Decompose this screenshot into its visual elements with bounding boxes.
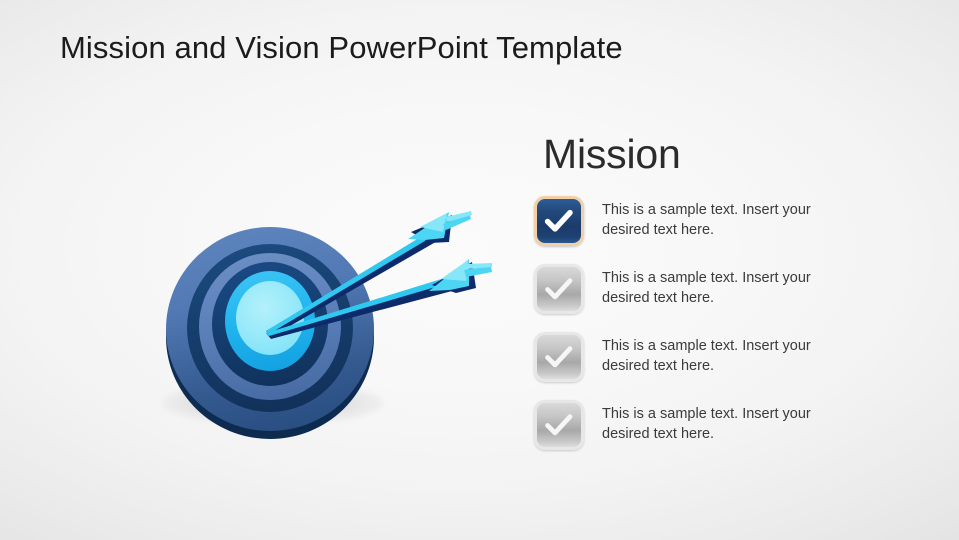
list-item-text: This is a sample text. Insert your desir…	[602, 268, 842, 308]
checkbox-item-1[interactable]	[534, 196, 584, 246]
list-item[interactable]: This is a sample text. Insert your desir…	[534, 332, 934, 400]
target-bullseye-center-icon	[236, 281, 304, 355]
check-icon	[537, 335, 581, 379]
list-item-text: This is a sample text. Insert your desir…	[602, 404, 842, 444]
list-item[interactable]: This is a sample text. Insert your desir…	[534, 400, 934, 468]
check-icon	[537, 403, 581, 447]
checkbox-item-4[interactable]	[534, 400, 584, 450]
list-item-text: This is a sample text. Insert your desir…	[602, 200, 842, 240]
check-icon	[537, 199, 581, 243]
page-title: Mission and Vision PowerPoint Template	[60, 30, 623, 66]
checkbox-item-3[interactable]	[534, 332, 584, 382]
checkbox-item-2[interactable]	[534, 264, 584, 314]
check-icon	[537, 267, 581, 311]
bullseye-target-graphic	[150, 205, 400, 440]
mission-bullet-list: This is a sample text. Insert your desir…	[534, 196, 934, 468]
list-item[interactable]: This is a sample text. Insert your desir…	[534, 264, 934, 332]
list-item-text: This is a sample text. Insert your desir…	[602, 336, 842, 376]
mission-heading: Mission	[543, 131, 681, 178]
slide-canvas: Mission and Vision PowerPoint Template	[0, 0, 959, 540]
list-item[interactable]: This is a sample text. Insert your desir…	[534, 196, 934, 264]
